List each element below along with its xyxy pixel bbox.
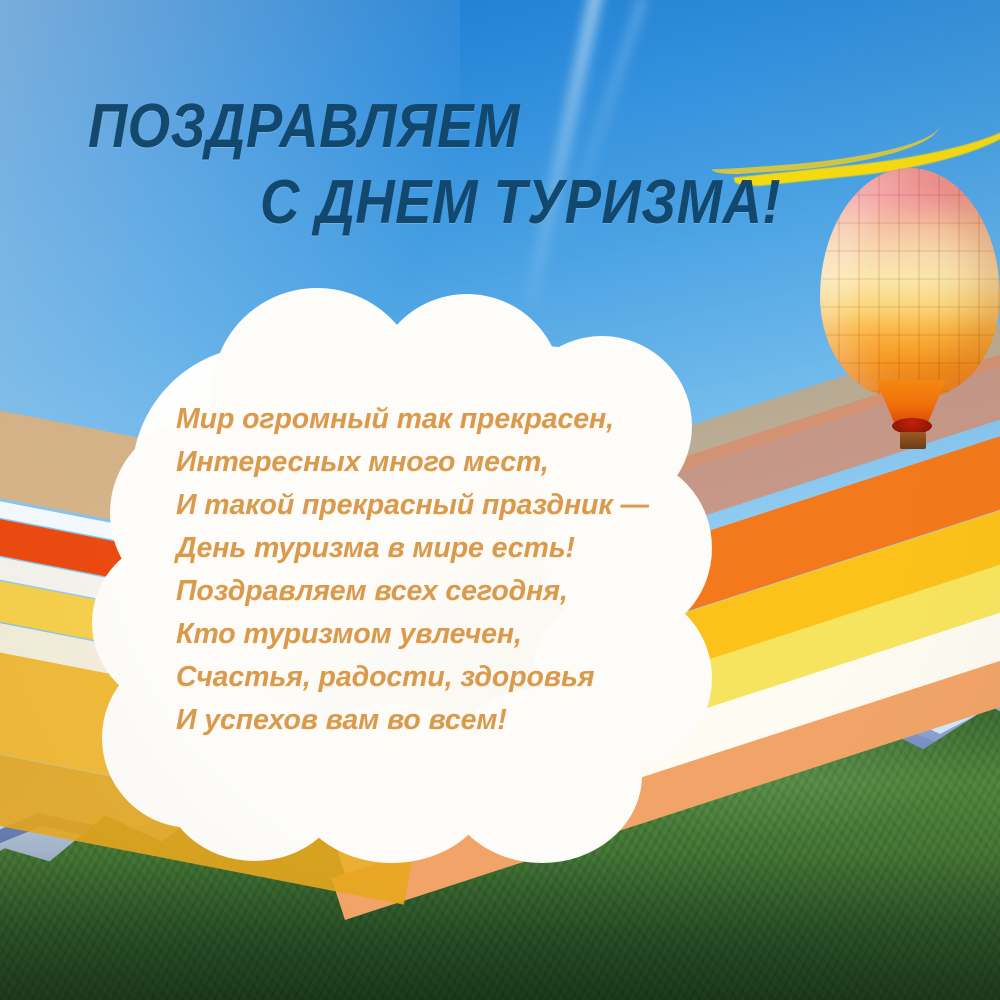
balloon-gore-lines [820, 168, 1000, 398]
poem-line: Мир огромный так прекрасен, [176, 398, 696, 441]
hot-air-balloon [820, 168, 1000, 468]
poem-line: Счастья, радости, здоровья [176, 656, 696, 699]
greeting-card: ПОЗДРАВЛЯЕМ С ДНЕМ ТУРИЗМА! Мир огромный… [0, 0, 1000, 1000]
poem-line: И такой прекрасный праздник — [176, 484, 696, 527]
poem-line: Поздравляем всех сегодня, [176, 570, 696, 613]
poem-line: Кто туризмом увлечен, [176, 613, 696, 656]
poem-text: Мир огромный так прекрасен, Интересных м… [176, 398, 696, 742]
poem-line: Интересных много мест, [176, 441, 696, 484]
poem-line: День туризма в мире есть! [176, 527, 696, 570]
poem-line: И успехов вам во всем! [176, 699, 696, 742]
balloon-envelope [820, 168, 1000, 398]
balloon-basket [900, 432, 926, 449]
